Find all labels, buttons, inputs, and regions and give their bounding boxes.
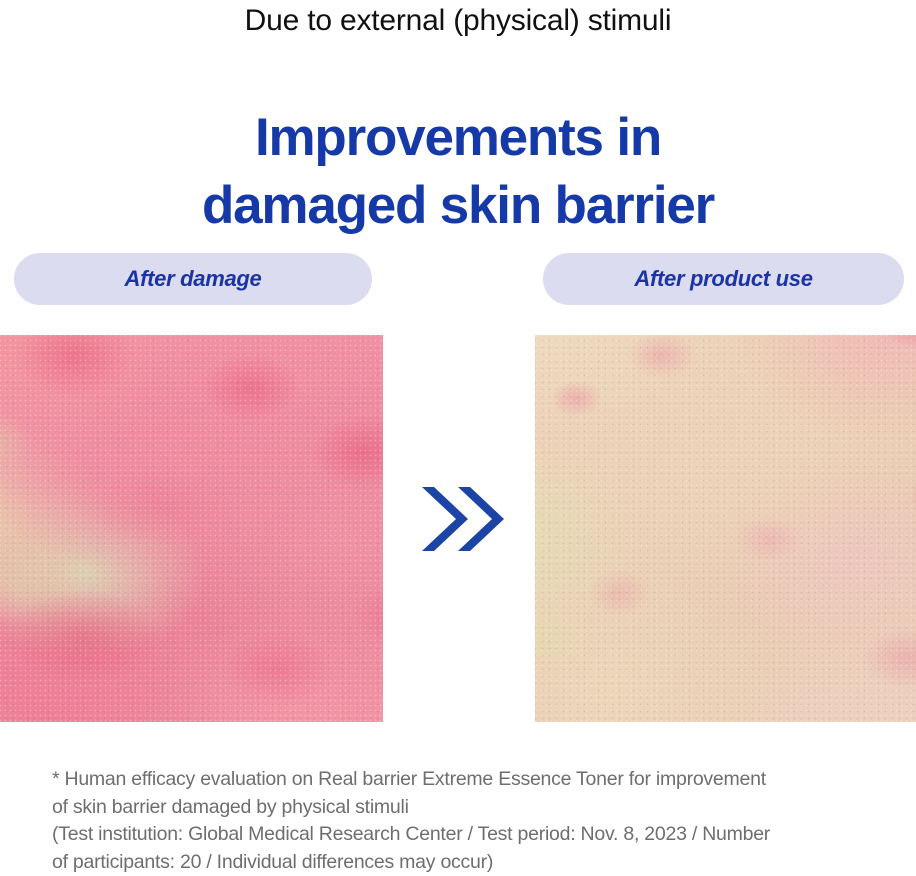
footnote-line-3: (Test institution: Global Medical Resear…: [52, 821, 880, 849]
double-chevron-right-icon: [420, 483, 506, 555]
eyebrow-text: Due to external (physical) stimuli: [0, 2, 916, 40]
footnote-line-1: * Human efficacy evaluation on Real barr…: [52, 766, 880, 794]
footnote-line-2: of skin barrier damaged by physical stim…: [52, 794, 880, 822]
before-skin-photo: [0, 335, 383, 722]
before-skin-vignette: [0, 335, 383, 722]
label-pill-after-damage: After damage: [14, 253, 372, 305]
page-title: Improvements in damaged skin barrier: [0, 104, 916, 240]
after-skin-vignette: [535, 335, 916, 722]
promo-page: Due to external (physical) stimuli Impro…: [0, 0, 916, 874]
headline-line-2: damaged skin barrier: [0, 172, 916, 240]
footnote: * Human efficacy evaluation on Real barr…: [52, 766, 880, 876]
headline-line-1: Improvements in: [0, 104, 916, 172]
label-pill-after-product-use-text: After product use: [634, 266, 812, 292]
after-skin-photo: [535, 335, 916, 722]
label-pill-after-product-use: After product use: [543, 253, 904, 305]
label-pill-after-damage-text: After damage: [125, 266, 262, 292]
footnote-line-4: of participants: 20 / Individual differe…: [52, 849, 880, 876]
